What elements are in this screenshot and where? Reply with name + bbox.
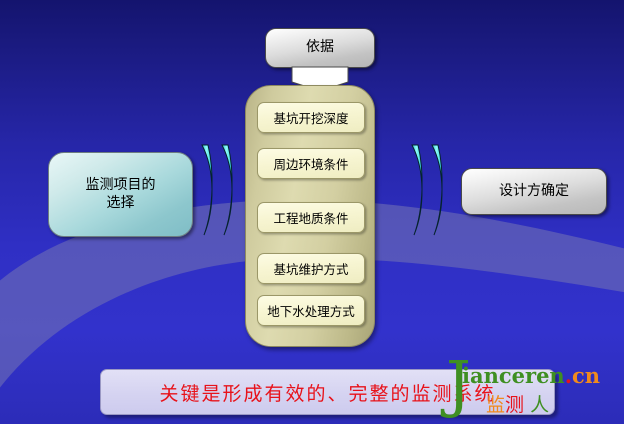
criteria-item-2[interactable]: 工程地质条件 xyxy=(257,202,365,233)
criteria-item-2-label: 工程地质条件 xyxy=(273,208,348,227)
criteria-item-4-label: 地下水处理方式 xyxy=(267,301,355,320)
watermark-domain-dot: . xyxy=(565,363,572,388)
flow-arcs-left xyxy=(198,142,250,238)
slide-canvas: 监测项目的 选择 依据 基坑开挖深度 周边环境条件 工 xyxy=(0,0,624,424)
criteria-item-4[interactable]: 地下水处理方式 xyxy=(257,295,365,326)
criteria-item-3[interactable]: 基坑维护方式 xyxy=(257,253,365,284)
label-line-2: 选择 xyxy=(107,195,135,211)
node-basis-callout[interactable]: 依据 xyxy=(265,28,375,68)
flow-arcs-right xyxy=(408,142,460,238)
node-monitoring-item-selection[interactable]: 监测项目的 选择 xyxy=(48,152,193,237)
label-line-1: 监测项目的 xyxy=(86,177,156,193)
criteria-item-0[interactable]: 基坑开挖深度 xyxy=(257,102,365,133)
watermark-domain-tld: cn xyxy=(572,363,600,388)
node-monitoring-item-selection-label: 监测项目的 选择 xyxy=(86,177,156,213)
criteria-item-0-label: 基坑开挖深度 xyxy=(273,108,348,127)
node-design-party-confirmation[interactable]: 设计方确定 xyxy=(461,168,607,215)
criteria-item-1-label: 周边环境条件 xyxy=(273,154,348,173)
key-message-banner: 关键是形成有效的、完整的监测系统 xyxy=(100,369,555,415)
criteria-item-1[interactable]: 周边环境条件 xyxy=(257,148,365,179)
criteria-container-panel: 基坑开挖深度 周边环境条件 工程地质条件 基坑维护方式 地下水处理方式 xyxy=(245,85,375,347)
key-message-banner-text: 关键是形成有效的、完整的监测系统 xyxy=(159,379,495,406)
node-design-party-confirmation-label: 设计方确定 xyxy=(499,183,569,201)
node-basis-callout-label: 依据 xyxy=(306,39,334,57)
criteria-item-3-label: 基坑维护方式 xyxy=(273,259,348,278)
